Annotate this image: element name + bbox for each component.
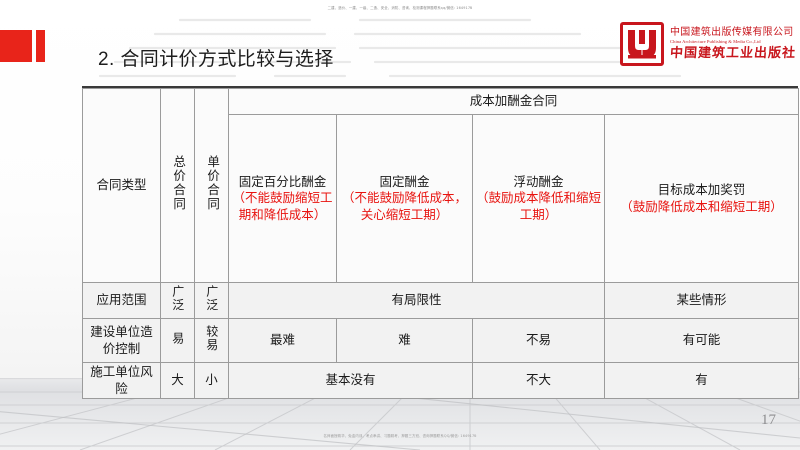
- cell-row0-lump-sum: 广泛: [161, 283, 195, 319]
- cell-row0-unit-price-value: 广泛: [205, 285, 218, 312]
- table-row: 施工单位风险 大 小 基本没有 不大 有: [83, 363, 799, 399]
- table-row: 应用范围 广泛 广泛 有局限性 某些情形: [83, 283, 799, 319]
- cell-row0-merged-span3: 有局限性: [229, 283, 605, 319]
- cell-costplus-col-2-name: 浮动酬金: [475, 174, 602, 191]
- cell-row-label-header: 合同类型: [83, 89, 161, 283]
- cell-costplus-col-3-note: （鼓励降低成本和缩短工期）: [607, 199, 796, 216]
- cell-row2-label: 施工单位风险: [83, 363, 161, 399]
- cell-costplus-col-1: 固定酬金 （不能鼓励降低成本，关心缩短工期）: [337, 115, 473, 283]
- red-accent-block: [0, 30, 50, 62]
- cell-row1-col-b: 难: [337, 319, 473, 363]
- cell-costplus-col-3-name: 目标成本加奖罚: [607, 182, 796, 199]
- cell-row1-col-d: 有可能: [605, 319, 799, 363]
- cell-costplus-col-0: 固定百分比酬金 （不能鼓励缩短工期和降低成本）: [229, 115, 337, 283]
- cell-row1-lump-sum-value: 易: [171, 332, 184, 346]
- cell-group-header: 成本加酬金合同: [229, 89, 799, 115]
- cell-row1-unit-price-value: 较易: [205, 325, 218, 352]
- logo-company-name-cn: 中国建筑出版传媒有限公司: [670, 27, 796, 40]
- cell-costplus-col-2-note: （鼓励成本降低和缩短工期）: [475, 190, 602, 223]
- accent-bar-small: [36, 30, 45, 62]
- cell-col-lump-sum-label: 总价合同: [171, 155, 184, 211]
- cell-row2-merged-ab: 基本没有: [229, 363, 473, 399]
- page-title: 2. 合同计价方式比较与选择: [98, 44, 334, 71]
- cell-row1-lump-sum: 易: [161, 319, 195, 363]
- cell-costplus-col-0-note: （不能鼓励缩短工期和降低成本）: [231, 190, 334, 223]
- cell-row1-col-a: 最难: [229, 319, 337, 363]
- watermark-top-text: 二建、造价、一建、一级、二造、安全、消防、咨询、检测课程押题联系қq/微信: 1…: [0, 6, 800, 10]
- cell-row0-col-d: 某些情形: [605, 283, 799, 319]
- cell-costplus-col-0-name: 固定百分比酬金: [231, 174, 334, 191]
- comparison-table-wrap: 合同类型 总价合同 单价合同 成本加酬金合同 固定百分比酬金 （不能鼓励缩短工期…: [82, 88, 798, 399]
- cell-row2-col-c: 不大: [473, 363, 605, 399]
- cell-costplus-col-3: 目标成本加奖罚 （鼓励降低成本和缩短工期）: [605, 115, 799, 283]
- publisher-logo-icon: [620, 22, 664, 66]
- cell-row2-unit-price: 小: [195, 363, 229, 399]
- table-group-header-row: 合同类型 总价合同 单价合同 成本加酬金合同: [83, 89, 799, 115]
- publisher-logo: 中国建筑出版传媒有限公司 China Architecture Publishi…: [620, 22, 796, 66]
- cell-row2-col-d: 有: [605, 363, 799, 399]
- cell-col-unit-price-label: 单价合同: [205, 155, 218, 211]
- logo-press-name-cn: 中国建筑工业出版社: [669, 46, 796, 62]
- cell-row0-label: 应用范围: [83, 283, 161, 319]
- cell-col-unit-price: 单价合同: [195, 89, 229, 283]
- slide-canvas: 二建、造价、一建、一级、二造、安全、消防、咨询、检测课程押题联系қq/微信: 1…: [0, 0, 800, 450]
- cell-row1-unit-price: 较易: [195, 319, 229, 363]
- cell-costplus-col-2: 浮动酬金 （鼓励成本降低和缩短工期）: [473, 115, 605, 283]
- table-row: 建设单位造价控制 易 较易 最难 难 不易 有可能: [83, 319, 799, 363]
- logo-company-name-en: China Architecture Publishing & Media Co…: [670, 39, 796, 45]
- accent-bar-large: [0, 30, 32, 62]
- cell-row1-col-c: 不易: [473, 319, 605, 363]
- cell-col-lump-sum: 总价合同: [161, 89, 195, 283]
- watermark-bottom-text: 名师面授精华、免金内训、考点串讲、习题精考、押题三方班、咨询押题联系QQ/微信:…: [0, 434, 800, 438]
- cell-row0-lump-sum-value: 广泛: [171, 285, 184, 312]
- cell-row2-lump-sum: 大: [161, 363, 195, 399]
- cell-costplus-col-1-name: 固定酬金: [339, 174, 470, 191]
- cell-row1-label: 建设单位造价控制: [83, 319, 161, 363]
- cell-row0-unit-price: 广泛: [195, 283, 229, 319]
- page-number: 17: [761, 412, 776, 429]
- cell-costplus-col-1-note: （不能鼓励降低成本，关心缩短工期）: [339, 190, 470, 223]
- contract-comparison-table: 合同类型 总价合同 单价合同 成本加酬金合同 固定百分比酬金 （不能鼓励缩短工期…: [82, 88, 799, 399]
